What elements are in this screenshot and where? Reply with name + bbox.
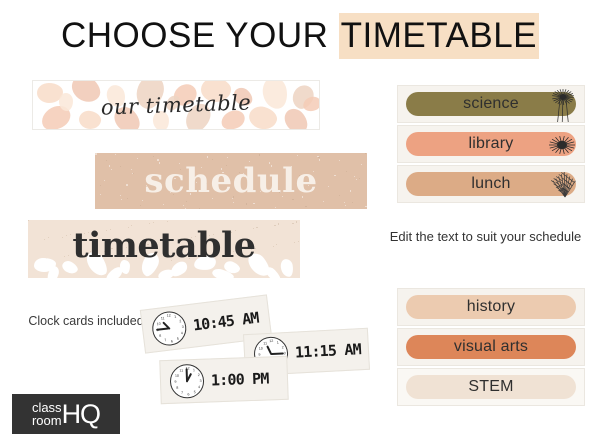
clock-tick-2: 2 (179, 320, 181, 324)
banner-schedule[interactable]: schedule (95, 153, 367, 209)
page-title-highlight: TIMETABLE (339, 13, 539, 59)
subject-card-label: visual arts (398, 338, 584, 356)
subject-card-STEM[interactable]: STEM (397, 368, 585, 406)
clock-tick-7: 7 (164, 339, 166, 343)
banner-timetable[interactable]: timetable (28, 220, 300, 278)
clock-pivot (270, 353, 273, 356)
dandelion-sketch-icon (548, 86, 582, 122)
clock-tick-7: 7 (181, 392, 183, 396)
subject-card-visual-arts[interactable]: visual arts (397, 328, 585, 366)
clock-tick-6: 6 (171, 340, 173, 344)
clock-tick-10: 10 (259, 347, 263, 351)
edit-instruction-note: Edit the text to suit your schedule (383, 228, 588, 247)
page-title-plain: CHOOSE YOUR (61, 16, 339, 55)
logo-hq-mark: HQ (62, 401, 101, 428)
logo-inner: class room HQ (32, 401, 100, 428)
clock-tick-1: 1 (277, 342, 279, 346)
clock-tick-4: 4 (198, 386, 200, 390)
clock-tick-5: 5 (194, 391, 196, 395)
clock-tick-8: 8 (176, 387, 178, 391)
clock-tick-1: 1 (193, 369, 195, 373)
thistle-sketch-icon (548, 126, 582, 162)
subject-card-lunch[interactable]: lunch (397, 165, 585, 203)
subject-card-science[interactable]: science (397, 85, 585, 123)
clock-time-label: 1:00 PM (211, 369, 269, 389)
clock-tick-9: 9 (174, 381, 176, 385)
subject-card-library[interactable]: library (397, 125, 585, 163)
subject-card-label: history (398, 298, 584, 316)
classroomhq-logo[interactable]: class room HQ (12, 394, 120, 434)
banner-our-timetable-label: our timetable (32, 80, 320, 130)
clock-tick-3: 3 (200, 380, 202, 384)
clock-tick-1: 1 (174, 316, 176, 320)
clock-tick-2: 2 (198, 374, 200, 378)
banner-timetable-label: timetable (72, 228, 255, 263)
clock-tick-12: 12 (167, 315, 171, 319)
poster-canvas: CHOOSE YOUR TIMETABLE our timetable sche… (0, 0, 600, 436)
clock-time-label: 11:15 AM (295, 340, 362, 361)
clock-tick-10: 10 (157, 322, 161, 326)
clock-tick-8: 8 (159, 335, 161, 339)
coral-sketch-icon (548, 166, 582, 202)
clock-minute-hand (271, 352, 284, 354)
clock-tick-12: 12 (269, 340, 273, 344)
banner-schedule-label: schedule (144, 164, 317, 198)
subject-card-history[interactable]: history (397, 288, 585, 326)
logo-wordmark: class room (32, 401, 62, 428)
clock-tick-4: 4 (181, 332, 183, 336)
clock-card[interactable]: 121234567891011 1:00 PM (159, 356, 288, 404)
clock-time-label: 10:45 AM (192, 309, 260, 335)
clock-pivot (186, 380, 188, 382)
clock-tick-6: 6 (187, 393, 189, 397)
clock-tick-11: 11 (179, 370, 183, 374)
clock-tick-2: 2 (282, 346, 284, 350)
subject-card-label: STEM (398, 378, 584, 396)
clock-pivot (168, 327, 171, 330)
logo-line-1: class (32, 401, 62, 414)
clock-tick-5: 5 (177, 338, 179, 342)
analog-clock-icon: 121234567891011 (150, 310, 188, 348)
clock-tick-3: 3 (182, 326, 184, 330)
clock-cards-note: Clock cards included (26, 313, 146, 330)
banner-our-timetable[interactable]: our timetable (32, 80, 320, 130)
logo-line-2: room (32, 414, 62, 427)
page-title: CHOOSE YOUR TIMETABLE (0, 18, 600, 53)
clock-tick-10: 10 (175, 374, 179, 378)
analog-clock-icon: 121234567891011 (169, 364, 204, 399)
